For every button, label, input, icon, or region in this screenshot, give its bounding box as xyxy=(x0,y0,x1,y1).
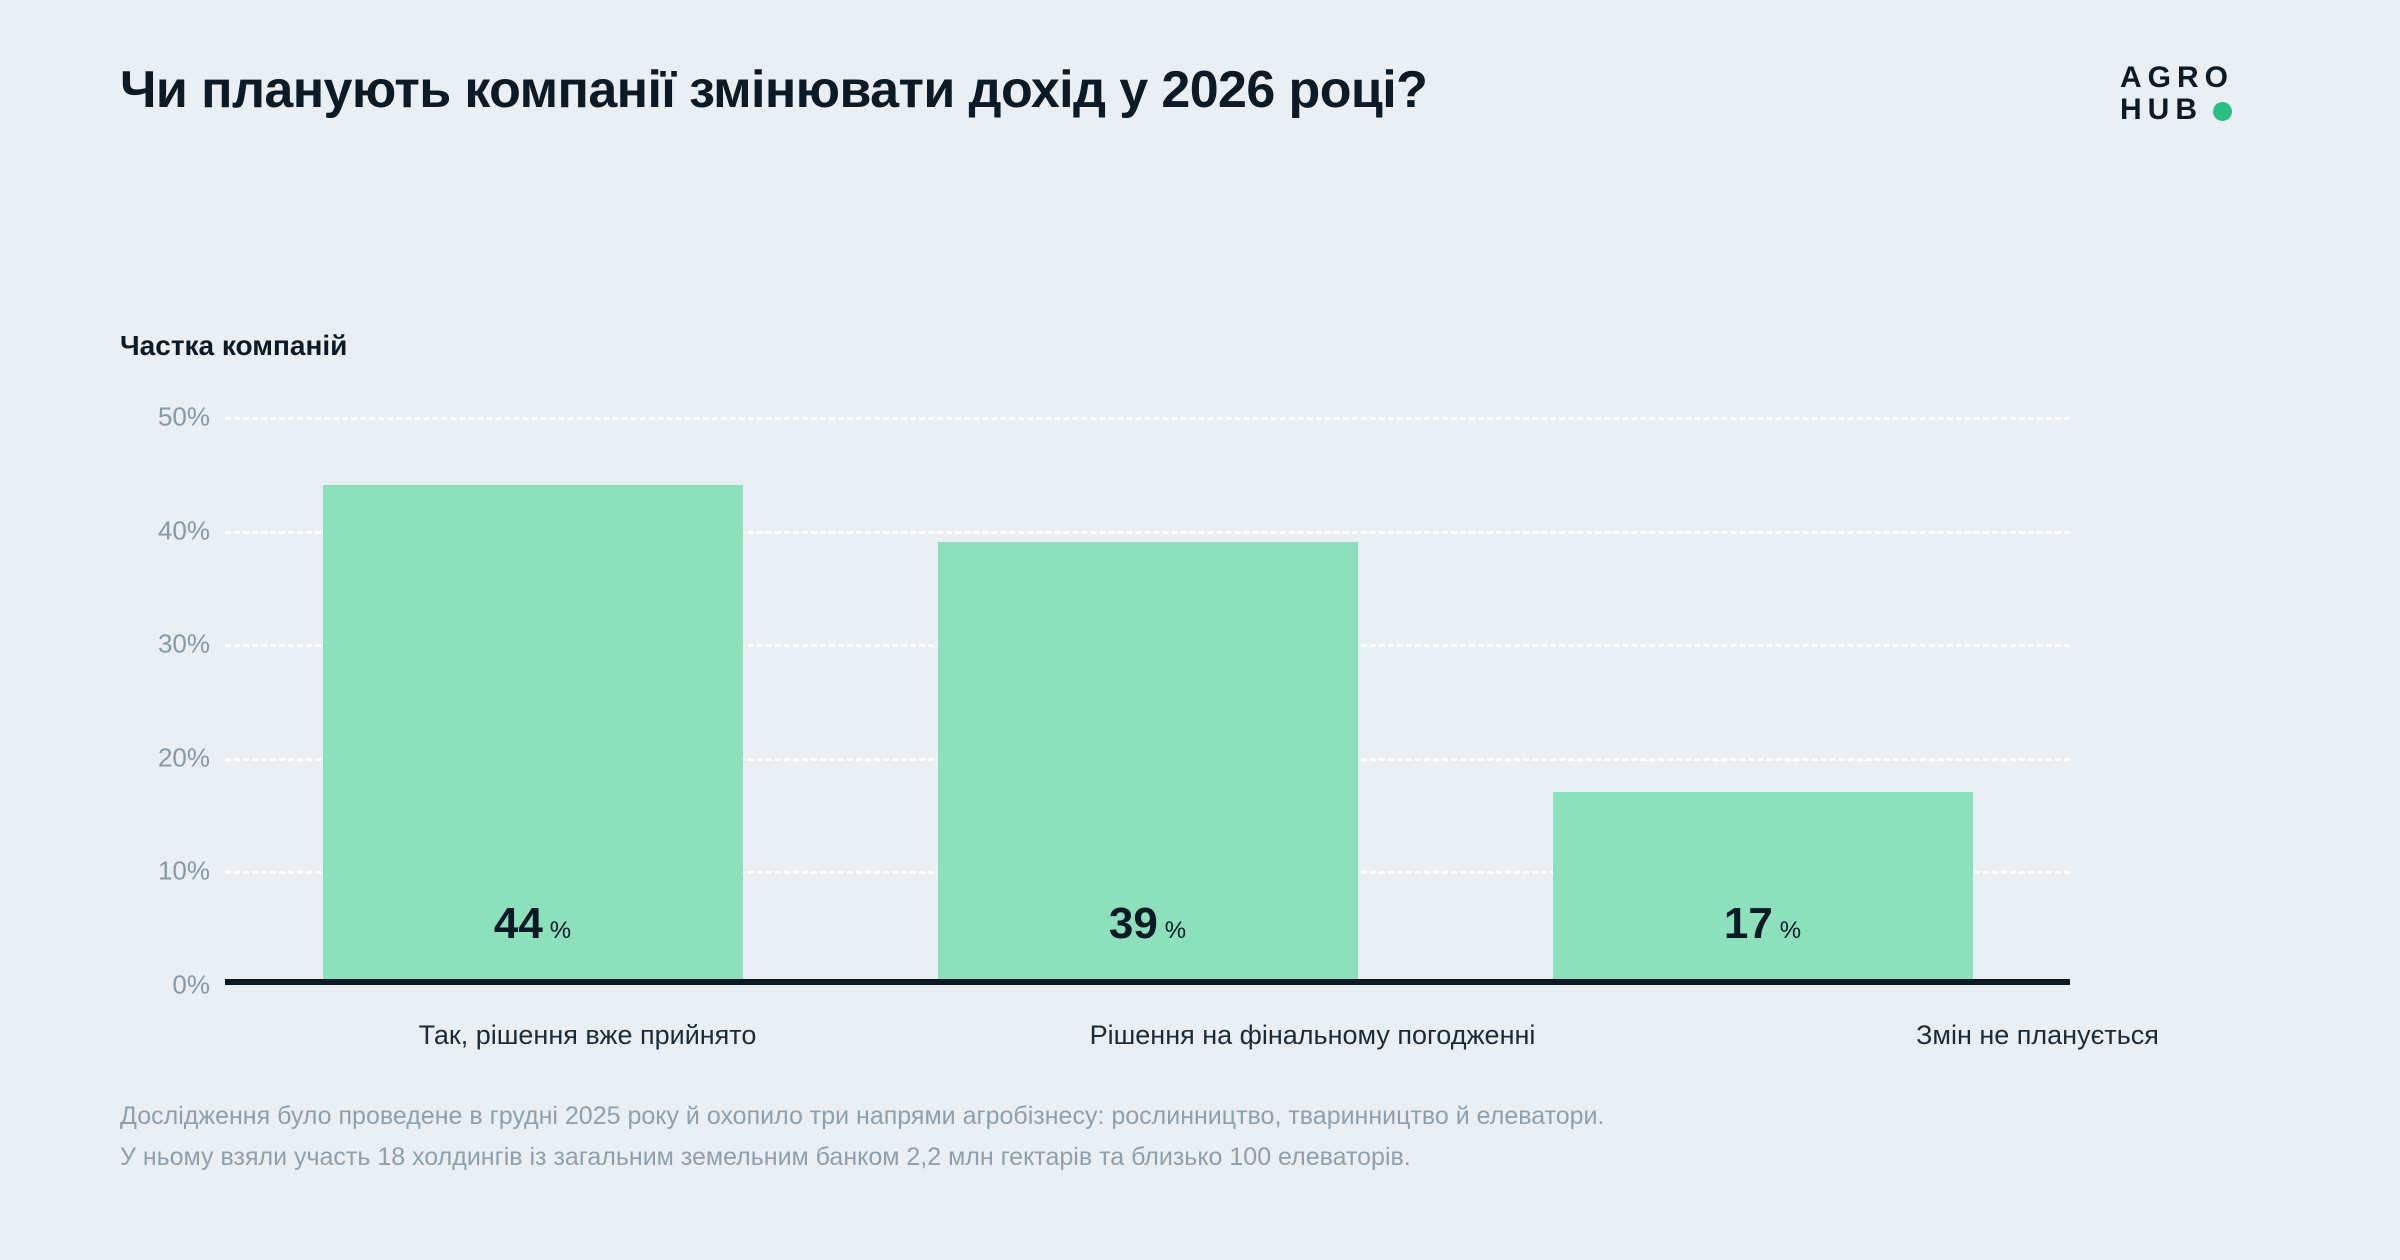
bar-value-percent-sign: % xyxy=(1165,917,1186,945)
bar-value-label: 17% xyxy=(1724,899,1801,949)
y-tick-label: 50% xyxy=(120,402,210,433)
logo-text-agro: AGRO xyxy=(2120,62,2300,94)
bar-series: 44%39%17% xyxy=(225,417,2070,985)
footnote: Дослідження було проведене в грудні 2025… xyxy=(120,1096,1604,1179)
bar-slot: 17% xyxy=(1455,417,2070,985)
logo-dot-icon xyxy=(2213,102,2232,121)
bar-value-number: 17 xyxy=(1724,899,1773,949)
y-tick-label: 20% xyxy=(120,742,210,773)
y-tick-label: 0% xyxy=(120,970,210,1001)
plot-area: 44%39%17% xyxy=(225,417,2070,985)
x-axis-label: Так, рішення вже прийнято xyxy=(225,1020,950,1051)
bar[interactable]: 39% xyxy=(938,542,1358,985)
y-tick-label: 10% xyxy=(120,856,210,887)
y-axis-title: Частка компаній xyxy=(120,330,347,362)
page-header: Чи планують компанії змінювати дохід у 2… xyxy=(0,0,2400,170)
footnote-line-1: Дослідження було проведене в грудні 2025… xyxy=(120,1096,1604,1137)
x-axis-line xyxy=(225,979,2070,985)
x-axis-label: Змін не планується xyxy=(1675,1020,2400,1051)
x-axis-labels: Так, рішення вже прийнятоРішення на фіна… xyxy=(225,1020,2400,1051)
bar[interactable]: 17% xyxy=(1553,792,1973,985)
bar-value-label: 39% xyxy=(1109,899,1186,949)
bar-value-percent-sign: % xyxy=(550,917,571,945)
page-title: Чи планують компанії змінювати дохід у 2… xyxy=(120,60,1427,120)
bar-value-percent-sign: % xyxy=(1780,917,1801,945)
logo-row-hub: HUB xyxy=(2120,94,2300,126)
y-tick-label: 30% xyxy=(120,629,210,660)
logo-text-hub: HUB xyxy=(2120,94,2203,126)
agrohub-logo: AGRO HUB xyxy=(2120,62,2300,126)
bar-value-label: 44% xyxy=(494,899,571,949)
footnote-line-2: У ньому взяли участь 18 холдингів із заг… xyxy=(120,1137,1604,1178)
bar-chart: 44%39%17% 50%40%30%20%10%0% xyxy=(120,395,2070,985)
x-axis-label: Рішення на фінальному погодженні xyxy=(950,1020,1675,1051)
bar-slot: 44% xyxy=(225,417,840,985)
bar-slot: 39% xyxy=(840,417,1455,985)
bar-value-number: 44 xyxy=(494,899,543,949)
bar[interactable]: 44% xyxy=(323,485,743,985)
bar-value-number: 39 xyxy=(1109,899,1158,949)
y-tick-label: 40% xyxy=(120,515,210,546)
